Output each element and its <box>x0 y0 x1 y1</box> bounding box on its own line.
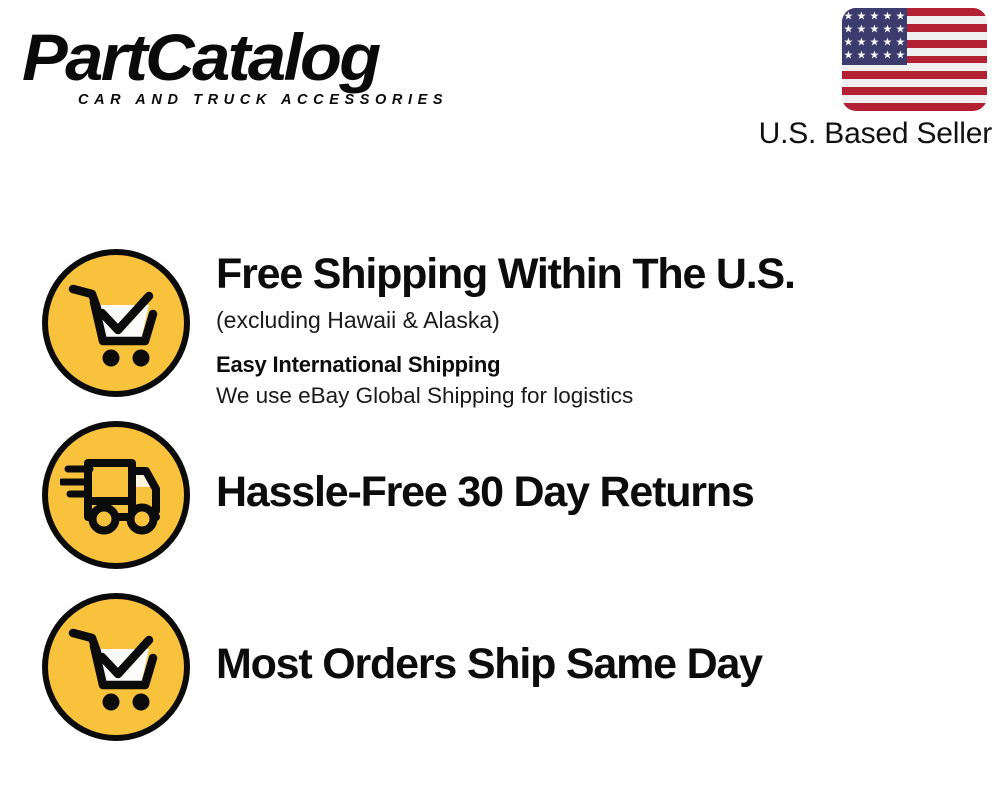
flag-star: ★ <box>870 25 880 36</box>
flag-star: ★ <box>896 51 906 62</box>
feature-subtitle: (excluding Hawaii & Alaska) <box>216 305 795 335</box>
feature-text-free-shipping: Free Shipping Within The U.S. (excluding… <box>216 249 795 411</box>
feature-title: Most Orders Ship Same Day <box>216 639 762 689</box>
flag-stripe <box>842 87 987 95</box>
feature-row-returns: Hassle-Free 30 Day Returns <box>42 421 754 569</box>
flag-canton: ★★★★★★★★★★★★★★★★★★★★ <box>842 8 907 65</box>
flag-star: ★ <box>844 25 854 36</box>
flag-star: ★ <box>844 12 854 23</box>
us-based-seller-label: U.S. Based Seller <box>759 117 992 151</box>
feature-sub-heading: Easy International Shipping <box>216 351 795 379</box>
flag-star: ★ <box>857 25 867 36</box>
flag-stripe <box>842 95 987 103</box>
delivery-truck-icon <box>42 421 190 569</box>
flag-stripe <box>842 79 987 87</box>
feature-row-same-day-ship: Most Orders Ship Same Day <box>42 593 762 741</box>
feature-sub-detail: We use eBay Global Shipping for logistic… <box>216 381 795 411</box>
flag-star: ★ <box>870 38 880 49</box>
feature-text-returns: Hassle-Free 30 Day Returns <box>216 421 754 517</box>
us-based-seller-badge: ★★★★★★★★★★★★★★★★★★★★ U.S. Based Seller <box>707 8 992 151</box>
flag-star: ★ <box>896 25 906 36</box>
shopping-cart-check-icon <box>42 593 190 741</box>
feature-row-free-shipping: Free Shipping Within The U.S. (excluding… <box>42 249 795 411</box>
brand-logo: PartCatalog CAR AND TRUCK ACCESSORIES <box>22 24 492 116</box>
promo-banner: PartCatalog CAR AND TRUCK ACCESSORIES ★★… <box>0 0 1000 800</box>
flag-star: ★ <box>844 38 854 49</box>
feature-title: Free Shipping Within The U.S. <box>216 249 795 299</box>
flag-star: ★ <box>896 38 906 49</box>
feature-text-same-day-ship: Most Orders Ship Same Day <box>216 593 762 689</box>
feature-title: Hassle-Free 30 Day Returns <box>216 467 754 517</box>
flag-star: ★ <box>870 51 880 62</box>
flag-star: ★ <box>883 38 893 49</box>
brand-tagline: CAR AND TRUCK ACCESSORIES <box>78 92 492 108</box>
flag-stripe <box>842 71 987 79</box>
flag-star: ★ <box>883 51 893 62</box>
us-flag-icon: ★★★★★★★★★★★★★★★★★★★★ <box>842 8 987 111</box>
flag-star: ★ <box>883 25 893 36</box>
brand-wordmark: PartCatalog <box>22 24 511 90</box>
shopping-cart-check-icon <box>42 249 190 397</box>
flag-star: ★ <box>857 38 867 49</box>
flag-star: ★ <box>857 51 867 62</box>
flag-stripe <box>842 103 987 111</box>
flag-star: ★ <box>896 12 906 23</box>
flag-star: ★ <box>883 12 893 23</box>
flag-star: ★ <box>857 12 867 23</box>
flag-star: ★ <box>844 51 854 62</box>
flag-star: ★ <box>870 12 880 23</box>
